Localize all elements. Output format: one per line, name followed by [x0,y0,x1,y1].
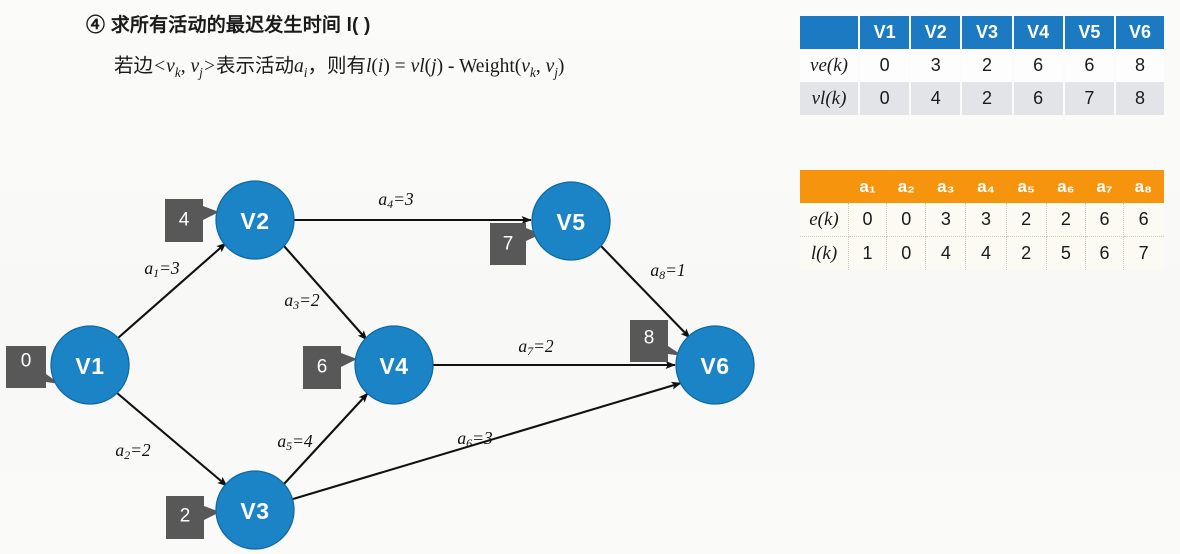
col-header-v4: V4 [1013,16,1064,49]
cell-ve-v6: 8 [1115,49,1164,82]
svg-text:V2: V2 [240,208,269,234]
callout-v3: 2 [166,496,220,539]
formula-mid: 表示活动 [216,56,294,77]
col-header-a8: a₈ [1123,170,1163,203]
edge-label-a6: a6=3 [457,428,493,450]
item-marker: ④ [86,15,105,36]
cell-e-a1: 0 [849,203,887,237]
col-header-v5: V5 [1064,16,1115,49]
svg-text:0: 0 [21,351,32,372]
cell-vl-v5: 7 [1064,82,1115,115]
table-header-row: a₁ a₂ a₃ a₄ a₅ a₆ a₇ a₈ [800,170,1164,203]
col-header-a6: a₆ [1046,170,1086,203]
node-v2[interactable]: V2 [216,181,294,259]
cell-l-a3: 4 [926,237,966,271]
svg-text:4: 4 [179,210,190,231]
row-header-l: l(k) [800,237,849,271]
cell-ve-v4: 6 [1013,49,1064,82]
node-v6[interactable]: V6 [676,326,754,404]
graph-area: a1=3 a2=2 a3=2 a4=3 a5=4 a6=3 a7=2 a8=1 … [0,150,790,554]
page-title: ④ 求所有活动的最迟发生时间 l( ) [86,10,746,37]
edge-label-a7: a7=2 [518,336,554,358]
row-header-e: e(k) [800,203,849,237]
node-v5[interactable]: V5 [532,182,610,260]
cell-ve-v3: 2 [961,49,1012,82]
cell-e-a7: 6 [1086,203,1124,237]
cell-e-a2: 0 [887,203,926,237]
edge-label-a1: a1=3 [144,258,180,280]
table-header-row: V1 V2 V3 V4 V5 V6 [800,16,1164,49]
table-row-e: e(k) 0 0 3 3 2 2 6 6 [800,203,1164,237]
formula-edge-notation: <vk, vj> [153,56,216,77]
table-corner-cell [800,170,849,203]
node-v1[interactable]: V1 [51,326,129,404]
svg-text:7: 7 [503,234,514,255]
col-header-a4: a₄ [966,170,1006,203]
edge-label-a8: a8=1 [650,260,685,282]
col-header-a3: a₃ [926,170,966,203]
vertex-time-table: V1 V2 V3 V4 V5 V6 ve(k) 0 3 2 6 6 8 vl(k… [800,16,1164,115]
cell-e-a8: 6 [1123,203,1163,237]
cell-e-a4: 3 [966,203,1006,237]
cell-l-a6: 5 [1046,237,1086,271]
svg-text:2: 2 [180,506,191,527]
cell-l-a5: 2 [1006,237,1046,271]
cell-vl-v6: 8 [1115,82,1164,115]
slide-canvas: ④ 求所有活动的最迟发生时间 l( ) 若边<vk, vj>表示活动ai，则有l… [0,0,1180,554]
cell-e-a6: 2 [1046,203,1086,237]
svg-text:6: 6 [317,357,328,378]
cell-e-a5: 2 [1006,203,1046,237]
col-header-a5: a₅ [1006,170,1046,203]
cell-l-a1: 1 [849,237,887,271]
edge-label-a3: a3=2 [284,290,320,312]
table-row-vl: vl(k) 0 4 2 6 7 8 [800,82,1164,115]
callout-v4: 6 [303,346,357,389]
col-header-v3: V3 [961,16,1012,49]
cell-ve-v2: 3 [910,49,961,82]
heading-block: ④ 求所有活动的最迟发生时间 l( ) 若边<vk, vj>表示活动ai，则有l… [86,10,746,81]
formula-line: 若边<vk, vj>表示活动ai，则有l(i) = vl(j) - Weight… [114,49,746,81]
svg-text:V4: V4 [379,353,408,379]
row-header-vl: vl(k) [800,82,859,115]
formula-prefix: 若边 [114,56,153,77]
cell-vl-v2: 4 [910,82,961,115]
callout-v6: 8 [630,320,683,362]
edge-label-a2: a2=2 [115,440,151,462]
cell-vl-v1: 0 [859,82,910,115]
node-v3[interactable]: V3 [216,471,294,549]
col-header-a7: a₇ [1086,170,1124,203]
node-v4[interactable]: V4 [355,326,433,404]
formula-activity: ai [294,56,307,77]
svg-text:8: 8 [644,328,655,349]
col-header-v6: V6 [1115,16,1164,49]
table-row-ve: ve(k) 0 3 2 6 6 8 [800,49,1164,82]
cell-l-a4: 4 [966,237,1006,271]
cell-ve-v5: 6 [1064,49,1115,82]
row-header-ve: ve(k) [800,49,859,82]
cell-vl-v3: 2 [961,82,1012,115]
cell-l-a7: 6 [1086,237,1124,271]
col-header-a1: a₁ [849,170,887,203]
col-header-a2: a₂ [887,170,926,203]
edge-label-a4: a4=3 [378,189,414,211]
col-header-v1: V1 [859,16,910,49]
svg-text:V3: V3 [240,498,269,524]
cell-l-a2: 0 [887,237,926,271]
svg-text:V6: V6 [700,353,729,379]
page-title-text: 求所有活动的最迟发生时间 l( ) [111,15,371,36]
svg-text:V5: V5 [556,209,585,235]
edge-a3 [284,246,367,340]
callout-v2: 4 [165,199,219,242]
table-row-l: l(k) 1 0 4 4 2 5 6 7 [800,237,1164,271]
cell-ve-v1: 0 [859,49,910,82]
cell-vl-v4: 6 [1013,82,1064,115]
svg-text:V1: V1 [75,353,104,379]
formula-tail: ，则有l(i) = vl(j) - Weight(vk, vj) [307,56,564,77]
col-header-v2: V2 [910,16,961,49]
table-corner-cell [800,16,859,49]
cell-l-a8: 7 [1123,237,1163,271]
activity-time-table: a₁ a₂ a₃ a₄ a₅ a₆ a₇ a₈ e(k) 0 0 3 3 2 2… [800,170,1164,270]
cell-e-a3: 3 [926,203,966,237]
edge-label-a5: a5=4 [277,431,313,453]
